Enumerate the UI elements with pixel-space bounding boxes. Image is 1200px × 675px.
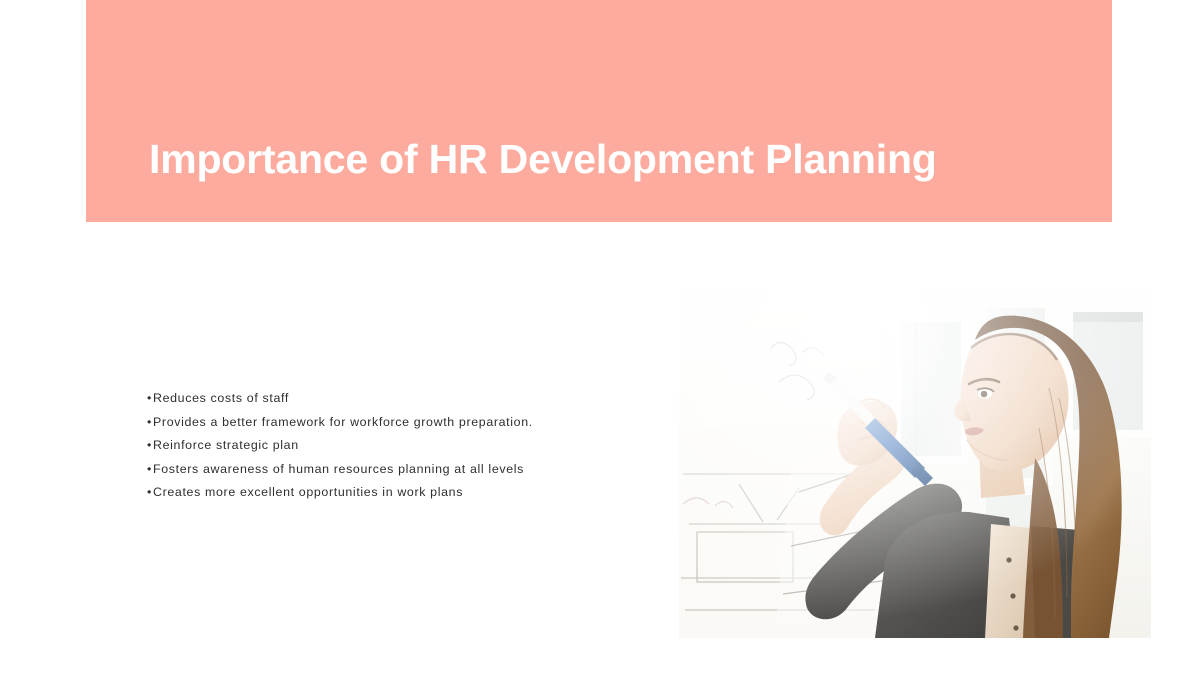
slide-canvas: Importance of HR Development Planning •R… (0, 0, 1200, 675)
bullet-list: •Reduces costs of staff •Provides a bett… (147, 387, 617, 505)
photo-glow-overlay (679, 278, 1151, 638)
list-item: •Reinforce strategic plan (147, 434, 617, 458)
list-item-label: Reduces costs of staff (153, 391, 289, 405)
list-item: •Creates more excellent opportunities in… (147, 481, 617, 505)
list-item-label: Reinforce strategic plan (153, 438, 299, 452)
photo-illustration (679, 278, 1151, 638)
list-item: •Provides a better framework for workfor… (147, 411, 617, 435)
page-title: Importance of HR Development Planning (149, 136, 937, 183)
slide-photo (679, 278, 1151, 638)
list-item: •Reduces costs of staff (147, 387, 617, 411)
title-banner (86, 0, 1112, 222)
list-item-label: Creates more excellent opportunities in … (153, 485, 463, 499)
list-item-label: Fosters awareness of human resources pla… (153, 462, 524, 476)
list-item-label: Provides a better framework for workforc… (153, 415, 533, 429)
list-item: •Fosters awareness of human resources pl… (147, 458, 617, 482)
